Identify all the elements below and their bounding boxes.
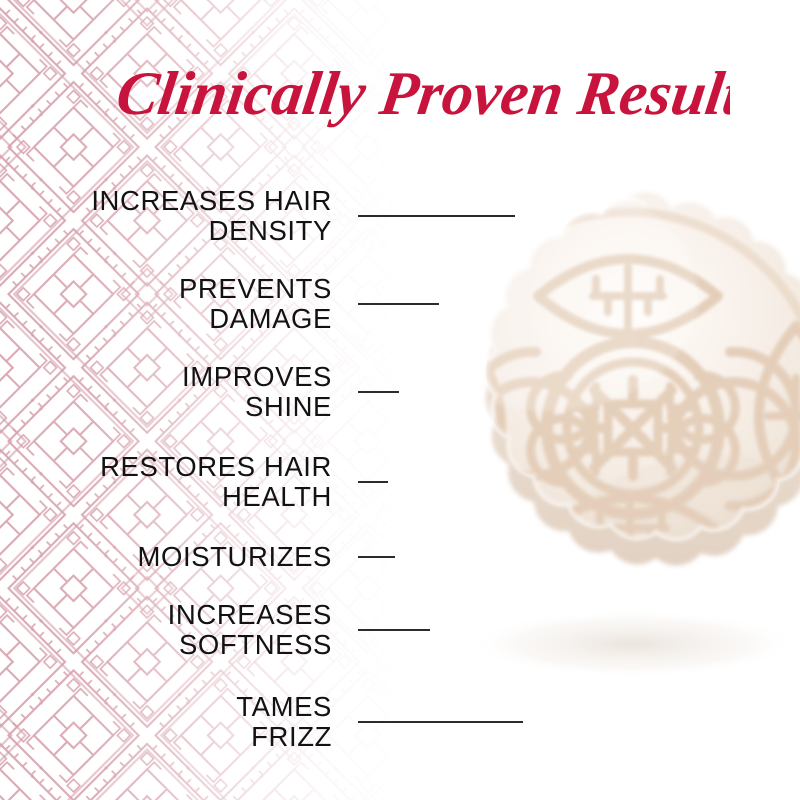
benefit-leader-line <box>358 556 395 558</box>
benefit-label: INCREASES HAIR DENSITY <box>0 186 332 245</box>
benefit-item: MOISTURIZES <box>0 542 540 572</box>
benefit-leader-line <box>358 391 399 393</box>
benefit-item: TAMES FRIZZ <box>0 692 540 751</box>
benefit-label: MOISTURIZES <box>0 542 332 572</box>
benefit-item: IMPROVES SHINE <box>0 362 540 421</box>
poster-canvas: Clinically Proven Results INCREASES HAIR… <box>0 0 800 800</box>
benefit-leader-line <box>358 721 523 723</box>
benefit-label: IMPROVES SHINE <box>0 362 332 421</box>
benefit-leader-line <box>358 215 515 217</box>
benefit-label: RESTORES HAIR HEALTH <box>0 452 332 511</box>
page-title-text: Clinically Proven Results <box>112 59 730 128</box>
page-title-artwork: Clinically Proven Results <box>70 58 730 134</box>
benefit-label: TAMES FRIZZ <box>0 692 332 751</box>
benefit-item: RESTORES HAIR HEALTH <box>0 452 540 511</box>
benefit-leader-line <box>358 303 439 305</box>
benefit-item: PREVENTS DAMAGE <box>0 274 540 333</box>
benefit-label: PREVENTS DAMAGE <box>0 274 332 333</box>
page-title: Clinically Proven Results <box>0 58 800 138</box>
benefit-item: INCREASES SOFTNESS <box>0 600 540 659</box>
benefit-label: INCREASES SOFTNESS <box>0 600 332 659</box>
benefit-leader-line <box>358 629 430 631</box>
benefit-leader-line <box>358 481 388 483</box>
benefit-item: INCREASES HAIR DENSITY <box>0 186 540 245</box>
